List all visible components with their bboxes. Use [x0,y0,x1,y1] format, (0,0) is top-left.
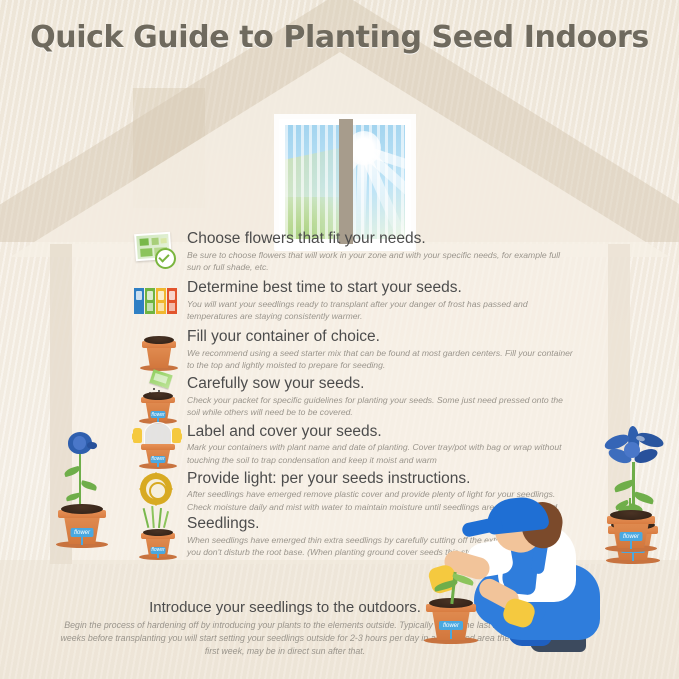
step-heading: Provide light: per your seeds instructio… [187,471,573,488]
window-pane-left [285,125,339,239]
step-item: flower Label and cover your seeds. Mark … [133,424,573,470]
step-heading: Label and cover your seeds. [187,424,573,441]
gardener-illustration: flower [430,498,679,679]
step-body: Check your packet for specific guideline… [187,394,573,418]
step-text: Carefully sow your seeds. Check your pac… [187,376,573,418]
step-body: Be sure to choose flowers that will work… [187,249,573,273]
blinds-overlay [353,125,405,239]
step-text: Choose flowers that fit your needs. Be s… [187,231,573,273]
step-heading: Determine best time to start your seeds. [187,280,573,297]
infographic-poster: Quick Guide to Planting Seed Indoors Cho… [0,0,679,679]
covered-pot-gloves-icon: flower [133,422,181,470]
step-text: Label and cover your seeds. Mark your co… [187,424,573,466]
step-item: Fill your container of choice. We recomm… [133,329,573,375]
step-heading: Fill your container of choice. [187,329,573,346]
step-heading: Carefully sow your seeds. [187,376,573,393]
step-body: You will want your seedlings ready to tr… [187,298,573,322]
step-item: flower Carefully sow your seeds. Check y… [133,376,573,422]
filled-pot-icon [133,329,181,375]
four-seasons-calendar-icon [133,284,181,330]
blinds-overlay [285,125,339,239]
window-mullion [339,119,353,245]
step-text: Determine best time to start your seeds.… [187,280,573,322]
seed-catalog-icon [133,231,181,277]
step-item: Determine best time to start your seeds.… [133,280,573,328]
step-item: Choose flowers that fit your needs. Be s… [133,231,573,279]
page-title: Quick Guide to Planting Seed Indoors [0,20,679,55]
step-text: Fill your container of choice. We recomm… [187,329,573,371]
step-heading: Choose flowers that fit your needs. [187,231,573,248]
step-body: We recommend using a seed starter mix th… [187,347,573,371]
sunny-window-icon [279,119,411,245]
window-pane-right [353,125,405,239]
left-potted-flower: flower [46,418,116,548]
seedlings-pot-icon: flower [133,508,181,562]
terracotta-pot: flower [54,504,110,548]
step-body: Mark your containers with plant name and… [187,441,573,465]
sowing-seed-packet-icon: flower [133,372,181,424]
